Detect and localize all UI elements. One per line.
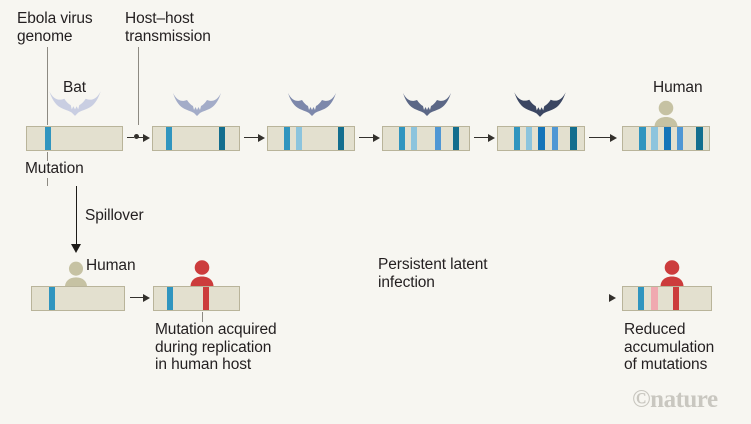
genome-bar-7 <box>31 286 125 311</box>
bat-icon-1 <box>48 88 102 118</box>
leader-line-mutation-acquired <box>202 312 203 322</box>
mutation-stripe <box>570 127 577 150</box>
human-icon-infected-middle <box>189 259 215 287</box>
genome-bar-2 <box>152 126 240 151</box>
leader-line-mutation-down <box>47 178 48 186</box>
label-human-bottom: Human <box>86 257 135 275</box>
genome-bar-5 <box>497 126 585 151</box>
leader-line-host-host <box>138 47 139 125</box>
mutation-stripe <box>399 127 405 150</box>
mutation-stripe-new <box>673 287 679 310</box>
label-reduced-accumulation: Reduced accumulation of mutations <box>624 321 714 374</box>
bat-icon-4 <box>402 90 452 118</box>
genome-bar-6 <box>622 126 710 151</box>
mutation-stripe <box>219 127 225 150</box>
mutation-stripe <box>526 127 532 150</box>
mutation-stripe <box>538 127 545 150</box>
label-mutation: Mutation <box>25 160 84 178</box>
genome-bar-4 <box>382 126 470 151</box>
mutation-stripe <box>284 127 290 150</box>
mutation-stripe <box>651 127 658 150</box>
mutation-stripe <box>664 127 671 150</box>
mutation-stripe <box>167 287 173 310</box>
label-spillover: Spillover <box>85 207 144 225</box>
genome-bar-8 <box>153 286 240 311</box>
bat-icon-2 <box>172 90 222 118</box>
label-human-top: Human <box>653 79 702 97</box>
mutation-stripe <box>677 127 683 150</box>
human-icon-infected-right <box>659 259 685 287</box>
mutation-stripe <box>411 127 417 150</box>
mutation-stripe-faded <box>651 287 658 310</box>
mutation-stripe <box>638 287 644 310</box>
mutation-stripe <box>639 127 646 150</box>
genome-bar-3 <box>267 126 355 151</box>
label-persistent-latent-infection: Persistent latent infection <box>378 256 487 291</box>
genome-bar-9 <box>622 286 712 311</box>
mutation-stripe <box>552 127 558 150</box>
bat-icon-3 <box>287 90 337 118</box>
leader-line-mutation <box>47 152 48 161</box>
mutation-stripe <box>45 127 51 150</box>
label-ebola-virus-genome: Ebola virus genome <box>17 10 93 45</box>
mutation-stripe <box>338 127 344 150</box>
genome-bar-1 <box>26 126 123 151</box>
mutation-stripe <box>696 127 703 150</box>
mutation-stripe <box>514 127 520 150</box>
mutation-stripe <box>166 127 172 150</box>
mutation-stripe-new <box>203 287 209 310</box>
mutation-stripe <box>49 287 55 310</box>
bat-icon-5 <box>513 89 567 119</box>
human-icon-top <box>653 100 679 127</box>
mutation-stripe <box>296 127 302 150</box>
mutation-stripe <box>453 127 459 150</box>
human-icon-bottom-left <box>63 261 89 287</box>
mutation-stripe <box>435 127 441 150</box>
ebola-mutation-diagram: Ebola virus genome Host–host transmissio… <box>0 0 751 424</box>
label-host-host-transmission: Host–host transmission <box>125 10 211 45</box>
nature-credit-logo: ©nature <box>632 386 718 414</box>
label-mutation-acquired: Mutation acquired during replication in … <box>155 321 277 374</box>
